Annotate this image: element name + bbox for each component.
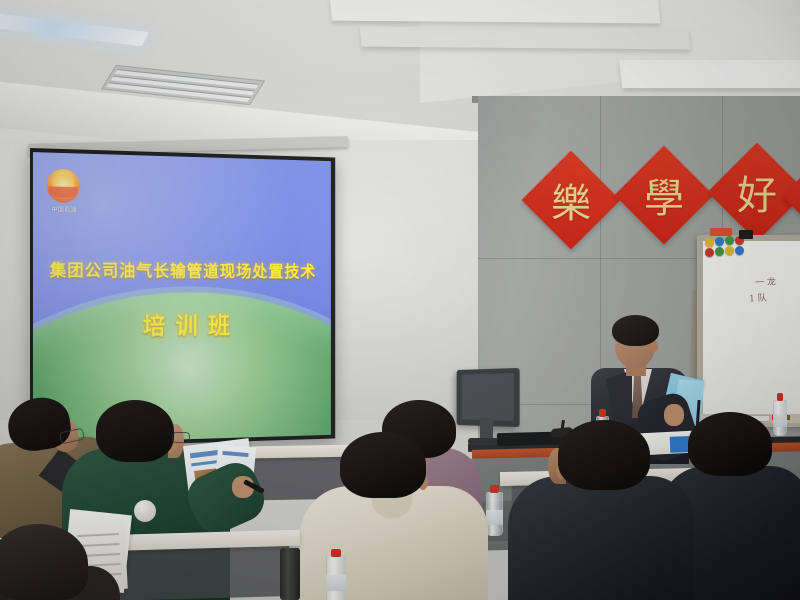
whiteboard-clip[interactable] xyxy=(739,230,753,239)
whiteboard-magnet[interactable] xyxy=(725,246,734,255)
ceiling-coffer-3 xyxy=(619,60,800,88)
earth-globe-glow xyxy=(33,286,331,444)
petrochina-logo-text: 中国石油 xyxy=(44,204,85,214)
whiteboard-surface: 一 龙 1 队 xyxy=(703,241,800,416)
bottle-cap xyxy=(331,549,341,557)
whiteboard-magnet[interactable] xyxy=(705,238,714,247)
slide-subtitle: 培训班 xyxy=(33,306,331,342)
attendee-dark-suit-1-hair xyxy=(558,420,650,490)
presenter-hand xyxy=(664,404,684,426)
water-bottle[interactable] xyxy=(326,556,346,600)
petrochina-logo xyxy=(47,168,80,203)
whiteboard-magnet[interactable] xyxy=(705,248,714,257)
whiteboard-magnet[interactable] xyxy=(735,246,744,255)
ceiling-coffer-2 xyxy=(360,26,690,49)
meeting-room-photo: 中国石油 集团公司油气长输管道现场处置技术 培训班 樂 學 好 一 龙 1 队 xyxy=(0,0,800,600)
slide-title: 集团公司油气长输管道现场处置技术 xyxy=(33,256,331,282)
attendee-green-sweater-hair xyxy=(96,400,174,462)
whiteboard-note[interactable] xyxy=(710,228,732,236)
whiteboard-text-line-2: 1 队 xyxy=(749,291,767,305)
water-bottle[interactable] xyxy=(773,400,787,436)
ceiling-coffer-1 xyxy=(330,0,661,24)
whiteboard-magnet[interactable] xyxy=(725,236,734,245)
attendee-dark-suit-2-hair xyxy=(688,412,772,476)
projection-screen: 中国石油 集团公司油气长输管道现场处置技术 培训班 xyxy=(30,148,335,448)
calligraphy-banner: 樂 xyxy=(522,151,621,250)
attendee-cream-jacket-hair xyxy=(340,432,426,498)
bottle-cap xyxy=(777,393,784,401)
bottle-cap xyxy=(599,409,605,417)
whiteboard-text-line-1: 一 龙 xyxy=(755,274,777,288)
banner-char xyxy=(792,172,800,220)
whiteboard-magnet[interactable] xyxy=(715,237,724,246)
bottle-cap xyxy=(490,485,498,493)
banner-char: 學 xyxy=(629,160,699,230)
slide-surface: 中国石油 集团公司油气长输管道现场处置技术 培训班 xyxy=(33,152,331,444)
earth-globe-graphic xyxy=(33,292,331,444)
banner-char: 樂 xyxy=(536,165,606,235)
thermos-bottle[interactable] xyxy=(280,548,300,600)
presenter-hair xyxy=(612,315,659,346)
eyeglasses-icon xyxy=(172,432,190,443)
water-bottle[interactable] xyxy=(486,492,503,536)
paper-cup[interactable] xyxy=(134,500,156,522)
banner-char: 好 xyxy=(722,157,792,227)
whiteboard-magnet[interactable] xyxy=(715,247,724,256)
calligraphy-banner: 學 xyxy=(615,146,714,245)
lcd-monitor-back-panel xyxy=(462,373,514,420)
